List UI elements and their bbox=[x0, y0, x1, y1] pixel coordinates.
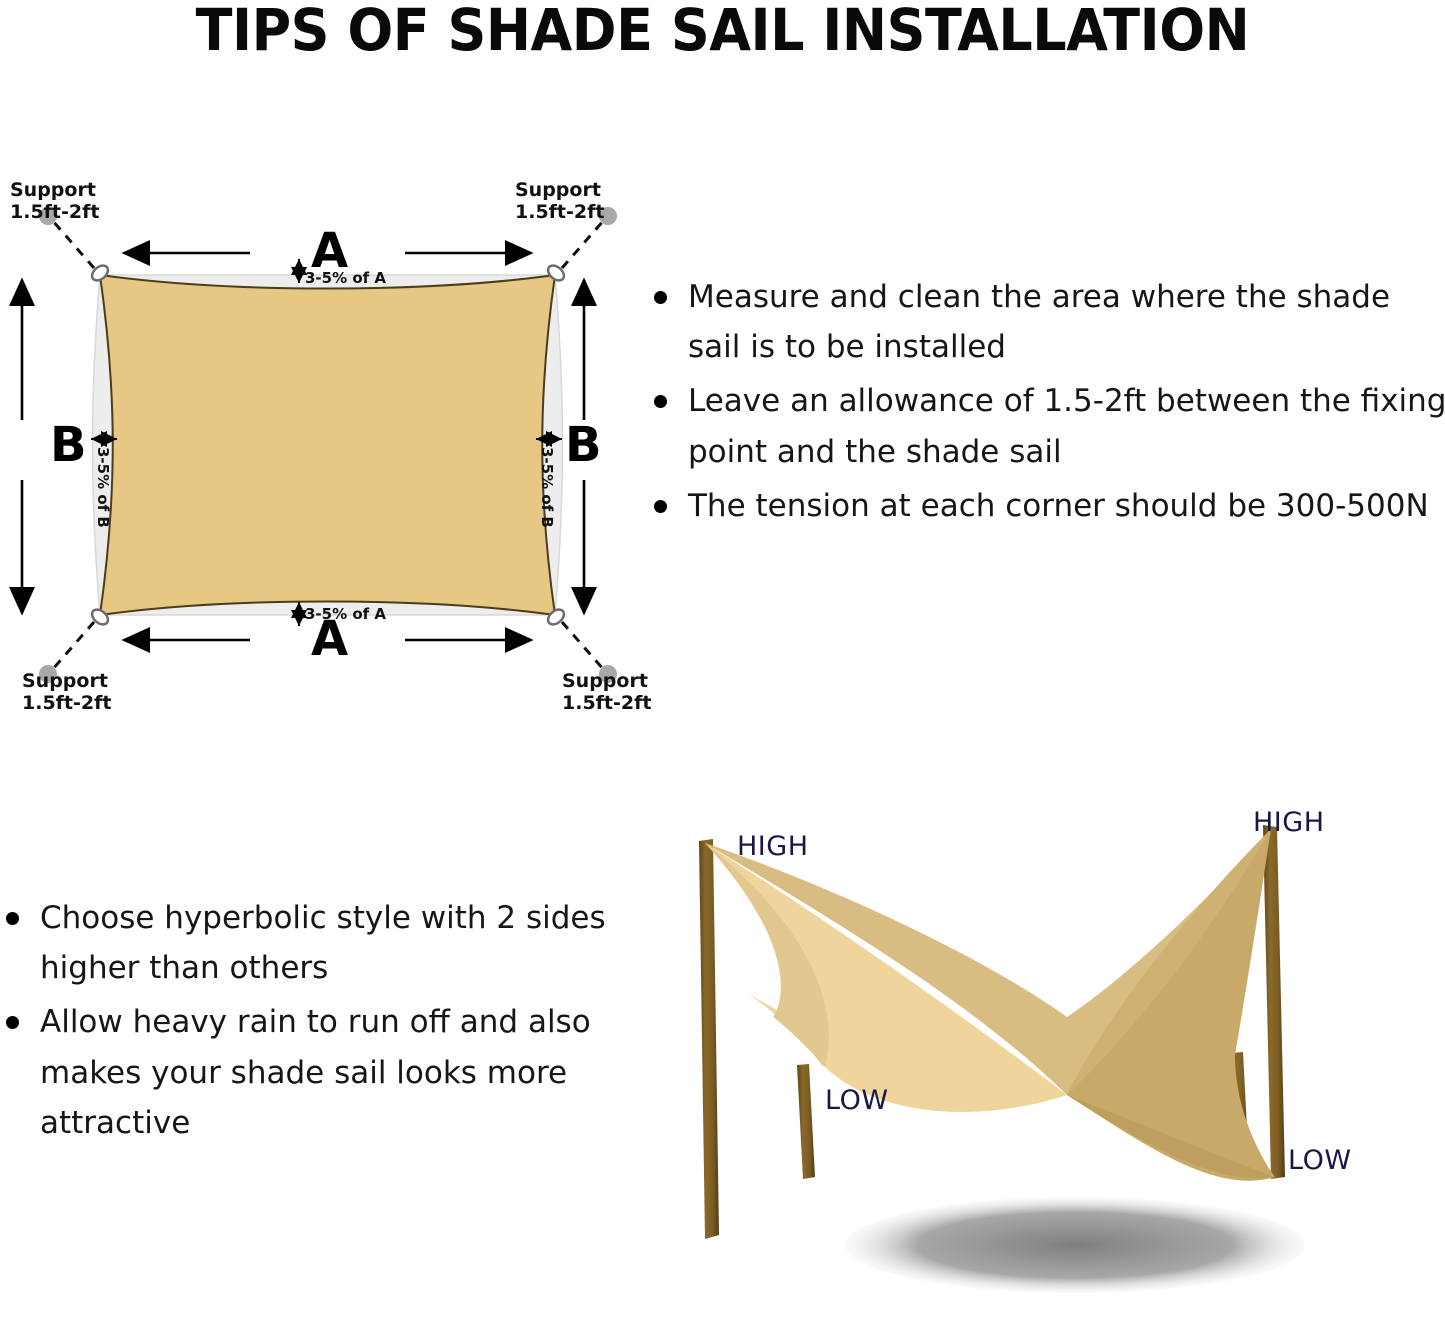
label-high-right: HIGH bbox=[1253, 807, 1325, 838]
dimension-label-b-right: B bbox=[565, 421, 602, 469]
support-label-bottom-right: Support 1.5ft-2ft bbox=[562, 670, 651, 715]
dash-top-left bbox=[52, 220, 94, 268]
support-label-line1: Support bbox=[562, 670, 648, 692]
support-label-line1: Support bbox=[515, 179, 601, 201]
page-title: TIPS OF SHADE SAIL INSTALLATION bbox=[51, 0, 1395, 64]
hyperbolic-sail-illustration: HIGH HIGH LOW LOW bbox=[675, 795, 1435, 1315]
support-label-line2: 1.5ft-2ft bbox=[22, 692, 111, 714]
sail-panel-left-main bbox=[705, 843, 1067, 1112]
label-low-right: LOW bbox=[1288, 1145, 1352, 1176]
dash-bottom-right bbox=[562, 622, 604, 670]
list-item: Measure and clean the area where the sha… bbox=[648, 272, 1445, 372]
sail-body bbox=[100, 275, 555, 615]
dimension-label-a-top: A bbox=[311, 227, 348, 275]
support-label-line2: 1.5ft-2ft bbox=[562, 692, 651, 714]
curvature-label-bottom: 3-5% of A bbox=[305, 605, 386, 623]
support-label-bottom-left: Support 1.5ft-2ft bbox=[22, 670, 111, 715]
support-label-top-right: Support 1.5ft-2ft bbox=[515, 179, 604, 224]
dimension-label-b-left: B bbox=[50, 421, 87, 469]
list-item: Choose hyperbolic style with 2 sides hig… bbox=[0, 893, 625, 993]
curvature-label-left: 3-5% of B bbox=[94, 447, 112, 528]
rectangular-sail-diagram: Support 1.5ft-2ft Support 1.5ft-2ft Supp… bbox=[0, 165, 660, 730]
label-low-left: LOW bbox=[825, 1085, 889, 1116]
support-label-line2: 1.5ft-2ft bbox=[515, 201, 604, 223]
post-low-left bbox=[797, 1064, 815, 1179]
curvature-label-right: 3-5% of B bbox=[538, 447, 556, 528]
list-item: Leave an allowance of 1.5-2ft between th… bbox=[648, 376, 1445, 476]
list-item: Allow heavy rain to run off and also mak… bbox=[0, 997, 625, 1148]
ground-shadow bbox=[845, 1197, 1305, 1293]
post-high-left bbox=[699, 839, 719, 1239]
post-high-right bbox=[1263, 825, 1285, 1179]
tips-list-installation: Measure and clean the area where the sha… bbox=[648, 272, 1445, 535]
dash-bottom-left bbox=[52, 622, 94, 670]
support-label-line1: Support bbox=[10, 179, 96, 201]
support-label-line1: Support bbox=[22, 670, 108, 692]
hyperbolic-sail-svg bbox=[675, 795, 1435, 1315]
dash-top-right bbox=[562, 220, 604, 268]
label-high-left: HIGH bbox=[737, 831, 809, 862]
support-label-top-left: Support 1.5ft-2ft bbox=[10, 179, 99, 224]
tips-list-hyperbolic: Choose hyperbolic style with 2 sides hig… bbox=[0, 893, 625, 1152]
curvature-label-top: 3-5% of A bbox=[305, 269, 386, 287]
support-label-line2: 1.5ft-2ft bbox=[10, 201, 99, 223]
list-item: The tension at each corner should be 300… bbox=[648, 481, 1445, 531]
